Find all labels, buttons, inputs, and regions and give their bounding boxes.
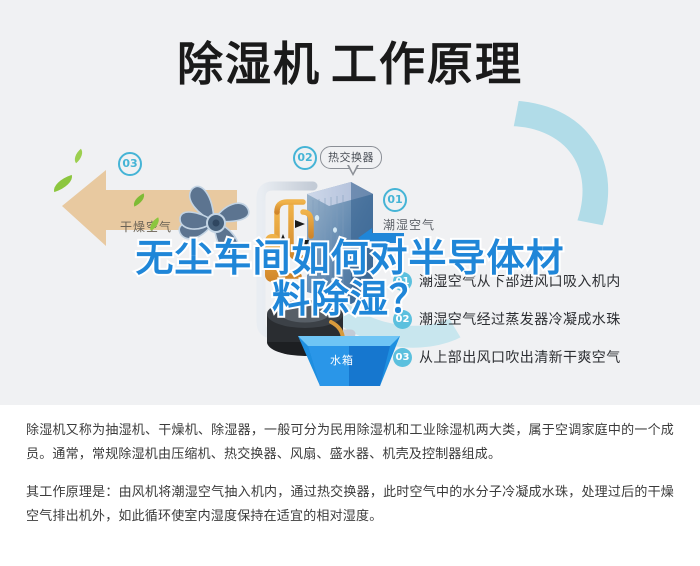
diagram-badge-02: 02 — [293, 146, 317, 170]
diagram-badge-03: 03 — [118, 152, 142, 176]
legend-text-01: 潮湿空气从下部进风口吸入机内 — [419, 271, 621, 291]
body-paragraph-1: 除湿机又称为抽湿机、干燥机、除湿器，一般可分为民用除湿机和工业除湿机两大类，属于… — [26, 419, 674, 467]
diagram-badge-01: 01 — [383, 188, 407, 212]
legend-list: 01 潮湿空气从下部进风口吸入机内 02 潮湿空气经过蒸发器冷凝成水珠 03 从… — [393, 262, 693, 376]
page-title-part1: 除湿机 — [177, 37, 321, 91]
legend-badge-03: 03 — [393, 348, 412, 367]
body-paragraph-2: 其工作原理是：由风机将潮湿空气抽入机内，通过热交换器，此时空气中的水分子冷凝成水… — [26, 481, 674, 529]
legend-text-03: 从上部出风口吹出清新干爽空气 — [419, 347, 621, 367]
legend-item: 02 潮湿空气经过蒸发器冷凝成水珠 — [393, 300, 693, 338]
water-tank-label: 水箱 — [330, 352, 354, 368]
legend-text-02: 潮湿空气经过蒸发器冷凝成水珠 — [419, 309, 621, 329]
page-root: 除湿机工作原理 干燥空气 — [0, 0, 700, 566]
legend-item: 03 从上部出风口吹出清新干爽空气 — [393, 338, 693, 376]
page-title-part2: 工作原理 — [331, 37, 523, 91]
legend-badge-02: 02 — [393, 310, 412, 329]
humid-air-label: 潮湿空气 — [383, 216, 435, 233]
page-title: 除湿机工作原理 — [0, 28, 700, 94]
leaf-icon — [71, 149, 86, 163]
legend-item: 01 潮湿空气从下部进风口吸入机内 — [393, 262, 693, 300]
dry-air-label: 干燥空气 — [120, 218, 172, 235]
article-body: 除湿机又称为抽湿机、干燥机、除湿器，一般可分为民用除湿机和工业除湿机两大类，属于… — [0, 405, 700, 566]
infographic-hero: 除湿机工作原理 干燥空气 — [0, 0, 700, 405]
legend-badge-01: 01 — [393, 272, 412, 291]
callout-pointer-icon — [347, 165, 359, 176]
